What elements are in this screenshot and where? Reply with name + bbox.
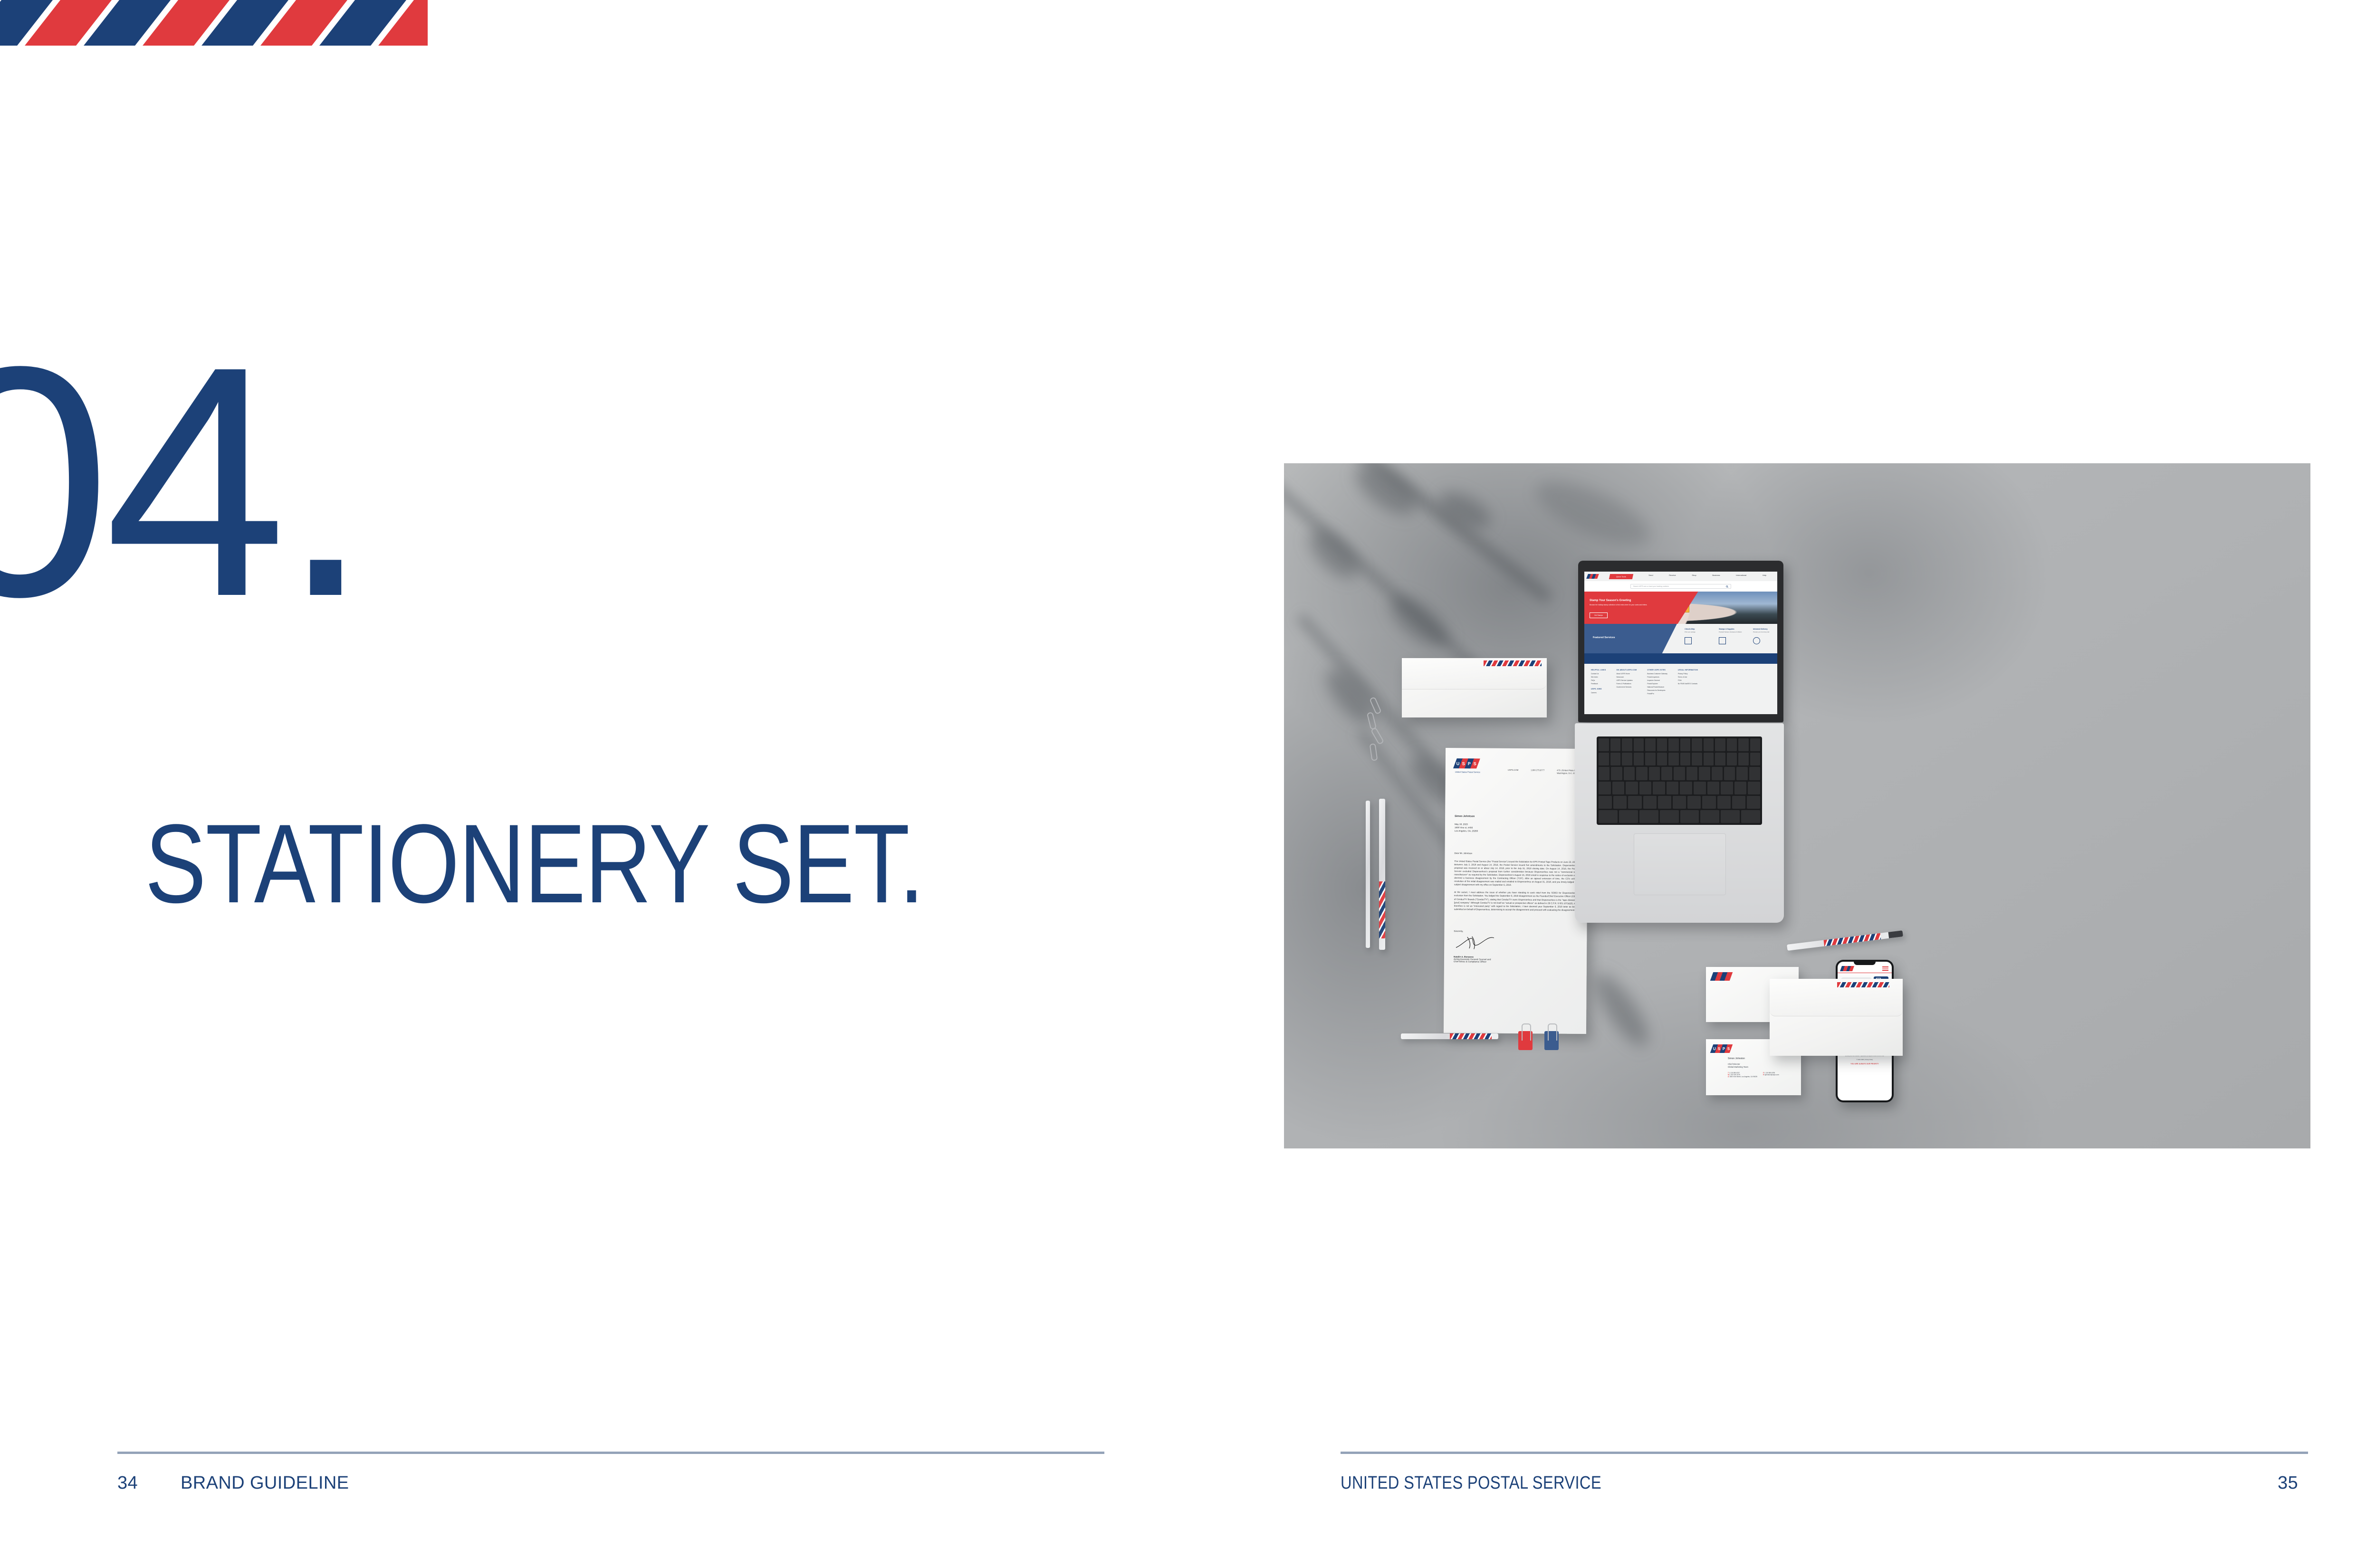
- footer-column-helpful-links: HELPFUL LINKS Contact Us Site Index FAQs…: [1591, 669, 1606, 709]
- laptop-screen: Quick Tools Send Receive Shop Business I…: [1584, 572, 1777, 714]
- keyboard-key[interactable]: [1649, 767, 1660, 780]
- letterhead: U S P S United States Postal Service USP…: [1444, 748, 1588, 1034]
- keyboard-key[interactable]: [1639, 782, 1652, 794]
- letter-salutation: Dear Mr. Johntson: [1455, 851, 1578, 856]
- logo-letter: P: [1468, 761, 1471, 766]
- footer-link[interactable]: PostalPro: [1647, 693, 1667, 695]
- keyboard-row: [1599, 796, 1760, 809]
- footer-heading: OTHER USPS SITES: [1647, 669, 1667, 671]
- nav-item-help[interactable]: Help: [1763, 574, 1766, 579]
- keyboard-key[interactable]: [1750, 753, 1761, 765]
- large-envelope: [1402, 658, 1547, 717]
- keyboard-key[interactable]: [1658, 796, 1671, 809]
- keyboard-key[interactable]: [1736, 767, 1747, 780]
- footer-column-legal: LEGAL INFORMATION Privacy Policy Terms o…: [1678, 669, 1698, 709]
- foliage-shadow: [1528, 468, 1658, 558]
- keyboard-key[interactable]: [1680, 753, 1691, 765]
- site-footer: HELPFUL LINKS Contact Us Site Index FAQs…: [1584, 664, 1777, 714]
- feature-sub: Preview your incoming mail: [1753, 631, 1777, 633]
- nav-item-quick-tools[interactable]: Quick Tools: [1609, 574, 1633, 579]
- recipient-name: Simon Johntson: [1455, 814, 1578, 819]
- footer-link[interactable]: Business Customer Gateway: [1647, 673, 1667, 675]
- footer-link[interactable]: No FEAR Act/EEO Contacts: [1678, 683, 1698, 685]
- footer-label-left: BRAND GUIDELINE: [181, 1473, 349, 1493]
- keyboard-key[interactable]: [1699, 767, 1710, 780]
- pen-silver: [1366, 801, 1370, 948]
- airmail-stripe: [1484, 660, 1542, 666]
- footer-column-about: ON ABOUT.USPS.COM About USPS Home Newsro…: [1616, 669, 1637, 709]
- feature-click-n-ship[interactable]: Click-N-Ship Print your postage: [1685, 628, 1709, 644]
- keyboard-row: [1599, 782, 1760, 794]
- page-number-right: 35: [2278, 1473, 2298, 1493]
- foliage-shadow: [1348, 463, 1425, 524]
- binder-clip-red: [1518, 1031, 1533, 1050]
- keyboard-key[interactable]: [1680, 782, 1692, 794]
- keyboard-key[interactable]: [1599, 738, 1609, 751]
- page-number-left: 34: [117, 1473, 138, 1493]
- keyboard-key[interactable]: [1599, 753, 1609, 765]
- footer-link[interactable]: Postal Explorer: [1647, 683, 1667, 685]
- keyboard-row: [1599, 767, 1760, 780]
- footer-heading: LEGAL INFORMATION: [1678, 669, 1698, 671]
- keyboard-key[interactable]: [1611, 767, 1622, 780]
- keyboard-key[interactable]: [1707, 782, 1720, 794]
- keyboard-key[interactable]: [1599, 810, 1618, 823]
- feature-sub: Print your postage: [1685, 631, 1709, 633]
- keyboard-key[interactable]: [1610, 738, 1621, 751]
- nav-item-international[interactable]: International: [1736, 574, 1746, 579]
- footer-heading: HELPFUL LINKS: [1591, 669, 1606, 671]
- keyboard-key[interactable]: [1639, 810, 1658, 823]
- keyboard-key[interactable]: [1626, 782, 1638, 794]
- keyboard-key[interactable]: [1643, 796, 1657, 809]
- pen-cap: [1888, 930, 1903, 938]
- usps-logo: U S P S: [1455, 758, 1480, 768]
- keyboard-key[interactable]: [1667, 782, 1679, 794]
- keyboard-key[interactable]: [1613, 796, 1627, 809]
- hamburger-menu-icon[interactable]: [1882, 966, 1888, 971]
- keyboard-key[interactable]: [1636, 767, 1647, 780]
- keyboard-key[interactable]: [1599, 796, 1612, 809]
- keyboard-key[interactable]: [1645, 738, 1656, 751]
- nav-item-receive[interactable]: Receive: [1669, 574, 1676, 579]
- keyboard-key[interactable]: [1724, 767, 1735, 780]
- search-input[interactable]: Search USPS.com or track your tracking n…: [1630, 584, 1731, 589]
- chapter-number: 04.: [0, 354, 364, 610]
- keyboard-key[interactable]: [1680, 810, 1699, 823]
- keyboard-key[interactable]: [1619, 810, 1638, 823]
- footer-link[interactable]: Inspector General: [1647, 679, 1667, 681]
- app-tagline: YOU ARE ALWAYS OUR PRIORITY: [1838, 1063, 1892, 1065]
- footer-link[interactable]: USPS Service Updates: [1616, 679, 1637, 681]
- keyboard-key[interactable]: [1704, 738, 1714, 751]
- logo-letter: S: [1462, 761, 1465, 766]
- footer-link[interactable]: Feedback: [1591, 683, 1606, 685]
- paper-clip: [1367, 712, 1377, 730]
- keyboard-key[interactable]: [1700, 810, 1719, 823]
- footer-link[interactable]: FAQs: [1591, 679, 1606, 681]
- logo-letter: S: [1474, 761, 1476, 766]
- hero-title: Stamp Your Season's Greeting: [1590, 599, 1659, 602]
- airmail-stripe: [1450, 1033, 1492, 1039]
- site-header: Quick Tools Send Receive Shop Business I…: [1584, 572, 1777, 581]
- feature-title: Click-N-Ship: [1685, 628, 1709, 630]
- hero-banner: Stamp Your Season's Greeting Browse the …: [1584, 592, 1777, 624]
- keyboard-row: [1599, 738, 1760, 751]
- keyboard-key[interactable]: [1738, 738, 1749, 751]
- footer-column-other-sites: OTHER USPS SITES Business Customer Gatew…: [1647, 669, 1667, 709]
- keyboard-key[interactable]: [1738, 753, 1749, 765]
- footer-link[interactable]: Government Services: [1616, 686, 1637, 688]
- letter-closing: Sincerely,: [1454, 930, 1577, 933]
- app-copyright: © 2023 USPS | Privacy Policy: [1838, 1059, 1892, 1061]
- laptop-keyboard: [1597, 736, 1762, 825]
- laptop-trackpad: [1634, 833, 1726, 895]
- keyboard-key[interactable]: [1634, 753, 1644, 765]
- keyboard-key[interactable]: [1702, 796, 1715, 809]
- letter-paragraph: The United States Postal Service (the "P…: [1454, 860, 1578, 888]
- footer-link[interactable]: Terms of Use: [1678, 676, 1698, 678]
- site-nav[interactable]: Quick Tools Send Receive Shop Business I…: [1601, 574, 1774, 579]
- small-envelope: [1770, 979, 1903, 1056]
- nav-item-shop[interactable]: Shop: [1692, 574, 1696, 579]
- keyboard-row: [1599, 810, 1760, 823]
- mail-carrier-icon: [1753, 637, 1760, 644]
- feature-stamps-supplies[interactable]: Stamps & Supplies Postcard Stamps, Envel…: [1719, 628, 1744, 644]
- keyboard-key[interactable]: [1715, 753, 1725, 765]
- keyboard-key[interactable]: [1692, 753, 1702, 765]
- keyboard-key[interactable]: [1712, 767, 1723, 780]
- footer-link[interactable]: FOIA: [1678, 679, 1698, 681]
- keyboard-key[interactable]: [1692, 738, 1702, 751]
- letterhead-web: USPS.COM: [1508, 769, 1518, 774]
- footer-link[interactable]: Privacy Policy: [1678, 673, 1698, 675]
- keyboard-key[interactable]: [1622, 753, 1632, 765]
- footer-link-careers[interactable]: Careers: [1591, 692, 1606, 694]
- keyboard-key[interactable]: [1741, 810, 1760, 823]
- keyboard-key[interactable]: [1721, 782, 1733, 794]
- footer-link[interactable]: Forms & Publications: [1616, 683, 1637, 685]
- get-stamps-button[interactable]: Get Stamps: [1590, 612, 1608, 618]
- footer-link[interactable]: Site Index: [1591, 676, 1606, 678]
- keyboard-key[interactable]: [1673, 796, 1686, 809]
- stationery-mockup-photo: U S P S United States Postal Service USP…: [1284, 463, 2310, 1148]
- keyboard-key[interactable]: [1747, 796, 1760, 809]
- logo-letter: U: [1456, 761, 1460, 766]
- airmail-stripe: [1837, 982, 1889, 987]
- search-placeholder: Search USPS.com or track your tracking n…: [1633, 585, 1669, 587]
- airmail-stripe: [1379, 881, 1385, 938]
- keyboard-key[interactable]: [1721, 810, 1740, 823]
- keyboard-key[interactable]: [1610, 753, 1621, 765]
- header-stripe-motif: [0, 0, 428, 46]
- feature-title: Informed Delivery: [1753, 628, 1777, 630]
- usps-logo: [1587, 574, 1598, 579]
- keyboard-key[interactable]: [1674, 767, 1685, 780]
- keyboard-key[interactable]: [1657, 753, 1667, 765]
- hero-copy: Stamp Your Season's Greeting Browse the …: [1590, 599, 1659, 618]
- keyboard-key[interactable]: [1624, 767, 1635, 780]
- nav-item-business[interactable]: Business: [1712, 574, 1720, 579]
- keyboard-key[interactable]: [1687, 796, 1701, 809]
- laptop-base: [1575, 723, 1784, 923]
- keyboard-key[interactable]: [1668, 738, 1679, 751]
- logo-letter: S: [1718, 1047, 1720, 1051]
- footer-heading-jobs: USPS JOBS: [1591, 688, 1606, 690]
- footer-label-right: UNITED STATES POSTAL SERVICE: [1341, 1473, 1601, 1493]
- keyboard-key[interactable]: [1704, 753, 1714, 765]
- brand-guideline-spread: 04. STATIONERY SET. U: [0, 0, 2376, 1568]
- keyboard-key[interactable]: [1748, 782, 1760, 794]
- card-name: Simon Johnston: [1728, 1057, 1795, 1060]
- footer-link[interactable]: Postal Inspectors: [1647, 676, 1667, 678]
- keyboard-key[interactable]: [1599, 767, 1610, 780]
- hero-subtitle: Browse the holiday stamp collection to f…: [1590, 604, 1659, 606]
- footer-heading: ON ABOUT.USPS.COM: [1616, 669, 1637, 671]
- airmail-stripe: [1824, 933, 1881, 947]
- keyboard-key[interactable]: [1628, 796, 1641, 809]
- keyboard-key[interactable]: [1660, 810, 1679, 823]
- footer-link[interactable]: Resources for Developers: [1647, 689, 1667, 691]
- usps-logo: [1841, 966, 1853, 971]
- stamp-icon: [1719, 637, 1726, 644]
- blue-divider-band: [1584, 653, 1777, 664]
- pen-striped: [1379, 799, 1385, 950]
- page-title: STATIONERY SET.: [145, 808, 924, 920]
- footer-link[interactable]: National Postal Museum: [1647, 686, 1667, 688]
- keyboard-row: [1599, 753, 1760, 765]
- letter-paragraph: At the outset, I must address the issue …: [1454, 890, 1578, 911]
- keyboard-key[interactable]: [1694, 782, 1706, 794]
- foliage-shadow: [1586, 966, 1657, 1053]
- binder-clip-blue: [1544, 1031, 1559, 1050]
- keyboard-key[interactable]: [1599, 782, 1611, 794]
- signature-icon: [1455, 934, 1495, 951]
- phone-notch: [1854, 962, 1876, 965]
- laptop-mockup: Quick Tools Send Receive Shop Business I…: [1575, 561, 1784, 936]
- feature-sub: Postcard Stamps, Envelopes & Mailers: [1719, 631, 1744, 633]
- letterhead-phone: 1.800.275.8777: [1531, 769, 1544, 774]
- keyboard-key[interactable]: [1749, 767, 1760, 780]
- keyboard-key[interactable]: [1661, 767, 1672, 780]
- footer-link[interactable]: About USPS Home: [1616, 673, 1637, 675]
- nav-item-send[interactable]: Send: [1648, 574, 1653, 579]
- keyboard-key[interactable]: [1653, 782, 1665, 794]
- pencil-horizontal: [1401, 1033, 1498, 1039]
- signer-title: Chief Ethics & Compliance Officer: [1454, 960, 1577, 964]
- card-contact-address: A 1600 Vine Street, Los Angeles, CA 9002…: [1728, 1076, 1795, 1078]
- search-icon: [1726, 585, 1728, 588]
- keyboard-key[interactable]: [1732, 796, 1745, 809]
- keyboard-key[interactable]: [1715, 738, 1725, 751]
- keyboard-key[interactable]: [1612, 782, 1625, 794]
- usps-wordmark: United States Postal Service: [1455, 771, 1480, 773]
- keyboard-key[interactable]: [1727, 738, 1737, 751]
- recipient-address-2: Los Angeles, CA, 20260: [1455, 830, 1578, 834]
- keyboard-key[interactable]: [1727, 753, 1737, 765]
- keyboard-key[interactable]: [1657, 738, 1667, 751]
- keyboard-key[interactable]: [1717, 796, 1731, 809]
- featured-services: Featured Services Click-N-Ship Print you…: [1584, 624, 1777, 653]
- keyboard-key[interactable]: [1645, 753, 1656, 765]
- feature-title: Stamps & Supplies: [1719, 628, 1744, 630]
- keyboard-key[interactable]: [1680, 738, 1691, 751]
- keyboard-key[interactable]: [1750, 738, 1761, 751]
- featured-blue-panel: Featured Services: [1584, 624, 1677, 653]
- footer-rule-right: [1341, 1452, 2308, 1454]
- footer-link[interactable]: Newsroom: [1616, 676, 1637, 678]
- keyboard-key[interactable]: [1686, 767, 1697, 780]
- pen-diagonal: [1787, 930, 1903, 951]
- feature-informed-delivery[interactable]: Informed Delivery Preview your incoming …: [1753, 628, 1777, 644]
- keyboard-key[interactable]: [1668, 753, 1679, 765]
- keyboard-key[interactable]: [1734, 782, 1747, 794]
- card-team: Global Marketing Team: [1728, 1066, 1795, 1069]
- logo-letter: S: [1727, 1047, 1730, 1051]
- footer-link[interactable]: Contact Us: [1591, 673, 1606, 675]
- featured-title: Featured Services: [1593, 636, 1615, 639]
- keyboard-key[interactable]: [1634, 738, 1644, 751]
- site-search-row: Search USPS.com or track your tracking n…: [1584, 581, 1777, 592]
- footer-rule-left: [117, 1452, 1104, 1454]
- printer-icon: [1685, 637, 1692, 644]
- laptop-lid: Quick Tools Send Receive Shop Business I…: [1578, 561, 1783, 722]
- keyboard-key[interactable]: [1622, 738, 1632, 751]
